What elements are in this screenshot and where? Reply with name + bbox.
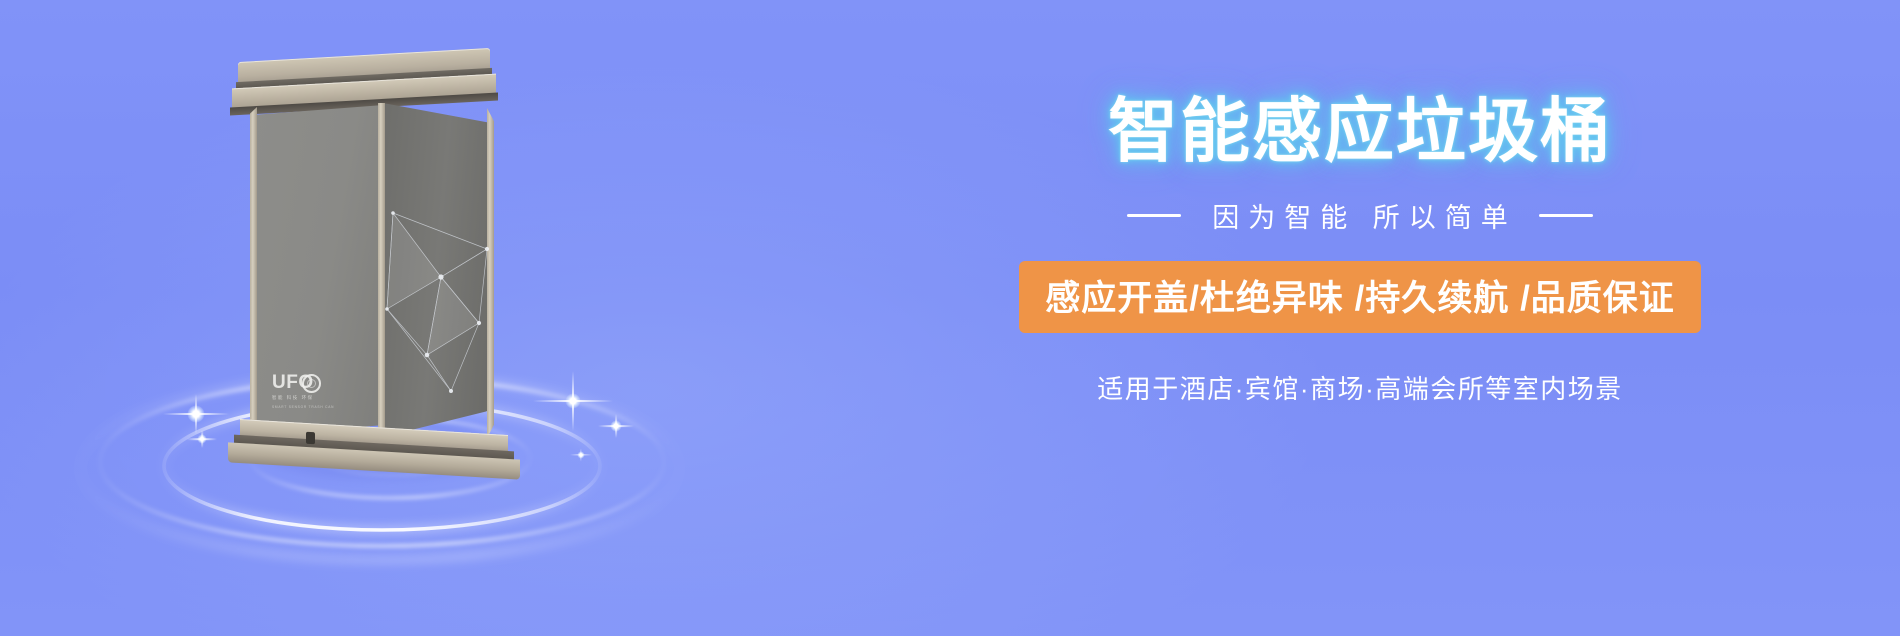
ufo-logo-subtitle-cn: 智能 科技 环保 [272, 395, 336, 401]
product-banner: UFO 智能 科技 环保 SMART SENSOR TRASH CAN 智能感应… [0, 0, 1900, 636]
product-stage: UFO 智能 科技 环保 SMART SENSOR TRASH CAN [60, 10, 760, 630]
polygon-network-graphic [383, 205, 495, 395]
banner-subline-text: 因为智能 所以简单 [1203, 196, 1517, 235]
ufo-logo-subtitle-en: SMART SENSOR TRASH CAN [272, 405, 336, 409]
banner-badge-wrap: 感应开盖/杜绝异味 /持久续航 /品质保证 [880, 261, 1840, 333]
banner-subline: 因为智能 所以简单 [880, 196, 1840, 235]
banner-tagline: 适用于酒店·宾馆·商场·高端会所等室内场景 [880, 369, 1840, 406]
dash-left-icon [1127, 214, 1181, 217]
bin-corner-post-left [250, 107, 257, 437]
banner-headline: 智能感应垃圾桶 [880, 96, 1840, 166]
feature-badge: 感应开盖/杜绝异味 /持久续航 /品质保证 [1019, 261, 1701, 333]
bin-sensor-icon [306, 432, 315, 445]
banner-copy-block: 智能感应垃圾桶 因为智能 所以简单 感应开盖/杜绝异味 /持久续航 /品质保证 … [880, 96, 1840, 406]
ufo-brand-logo: UFO 智能 科技 环保 SMART SENSOR TRASH CAN [272, 373, 336, 427]
ufo-logo-ring-icon [302, 374, 321, 393]
smart-trash-bin-product-image: UFO 智能 科技 环保 SMART SENSOR TRASH CAN [210, 55, 530, 455]
dash-right-icon [1539, 214, 1593, 217]
